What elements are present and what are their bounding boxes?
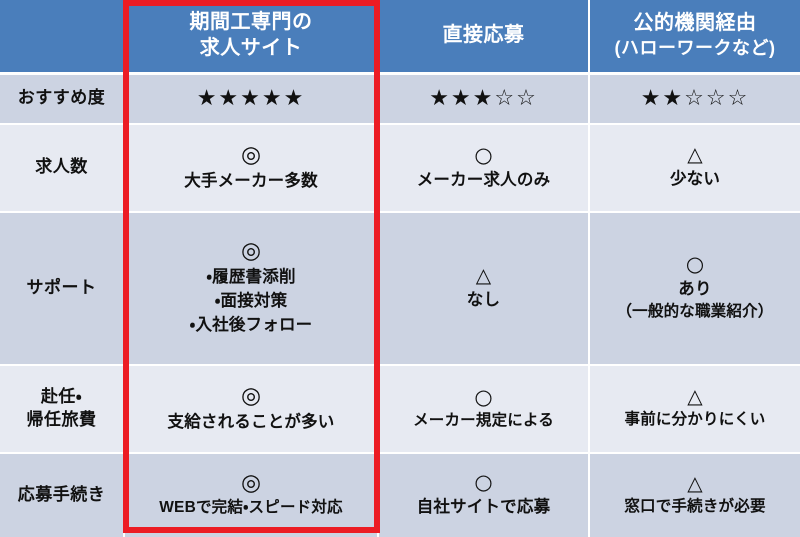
cell-travel-expenses-direct: ○ メーカー規定による bbox=[378, 365, 589, 453]
header-col-public-line2: (ハローワークなど) bbox=[592, 37, 798, 60]
row-label-support-line1: サポート bbox=[4, 277, 119, 300]
table-row-job-count: 求人数 ◎ 大手メーカー多数 ○ メーカー求人のみ △ 少ない bbox=[0, 124, 800, 212]
header-col-public: 公的機関経由 (ハローワークなど) bbox=[589, 0, 800, 73]
cell-support-direct: △ なし bbox=[378, 212, 589, 365]
cell-application-process-public-note: 窓口で手続きが必要 bbox=[594, 496, 796, 519]
cell-job-count-direct-note: メーカー求人のみ bbox=[383, 168, 584, 192]
row-label-job-count-line1: 求人数 bbox=[4, 156, 119, 179]
header-col-main: 期間工専門の 求人サイト bbox=[124, 0, 378, 73]
double-circle-icon: ◎ bbox=[129, 471, 373, 495]
header-col-public-line1: 公的機関経由 bbox=[592, 11, 798, 37]
cell-recommendation-main: ★★★★★ bbox=[124, 73, 378, 124]
table-body: おすすめ度 ★★★★★ ★★★☆☆ ★★☆☆☆ 求人数 ◎ bbox=[0, 73, 800, 537]
circle-icon: ○ bbox=[383, 386, 584, 408]
table-row-recommendation: おすすめ度 ★★★★★ ★★★☆☆ ★★☆☆☆ bbox=[0, 73, 800, 124]
table-row-support: サポート ◎ ・履歴書添削 ・面接対策 ・入社後フォロー △ なし ○ あり （… bbox=[0, 212, 800, 365]
triangle-icon: △ bbox=[594, 386, 796, 407]
cell-support-public-note1: あり bbox=[594, 277, 796, 301]
header-corner-cell bbox=[0, 0, 124, 73]
row-label-recommendation-line1: おすすめ度 bbox=[4, 87, 119, 110]
cell-job-count-main: ◎ 大手メーカー多数 bbox=[124, 124, 378, 212]
row-label-travel-expenses-line2: 帰任旅費 bbox=[4, 409, 119, 432]
circle-icon: ○ bbox=[594, 253, 796, 275]
cell-support-main: ◎ ・履歴書添削 ・面接対策 ・入社後フォロー bbox=[124, 212, 378, 365]
comparison-table-grid: 期間工専門の 求人サイト 直接応募 公的機関経由 (ハローワークなど) おすすめ… bbox=[0, 0, 800, 537]
cell-travel-expenses-main: ◎ 支給されることが多い bbox=[124, 365, 378, 453]
double-circle-icon: ◎ bbox=[129, 384, 373, 408]
comparison-table: 期間工専門の 求人サイト 直接応募 公的機関経由 (ハローワークなど) おすすめ… bbox=[0, 0, 800, 537]
double-circle-icon: ◎ bbox=[129, 239, 373, 263]
cell-travel-expenses-public-note: 事前に分かりにくい bbox=[594, 409, 796, 432]
header-col-direct-line1: 直接応募 bbox=[381, 23, 586, 49]
cell-application-process-main: ◎ WEBで完結・スピード対応 bbox=[124, 453, 378, 537]
header-row: 期間工専門の 求人サイト 直接応募 公的機関経由 (ハローワークなど) bbox=[0, 0, 800, 73]
star-rating-main: ★★★★★ bbox=[129, 88, 373, 110]
star-rating-direct: ★★★☆☆ bbox=[383, 88, 584, 110]
row-label-application-process: 応募手続き bbox=[0, 453, 124, 537]
table-header: 期間工専門の 求人サイト 直接応募 公的機関経由 (ハローワークなど) bbox=[0, 0, 800, 73]
cell-travel-expenses-main-note: 支給されることが多い bbox=[129, 410, 373, 434]
cell-recommendation-direct: ★★★☆☆ bbox=[378, 73, 589, 124]
row-label-recommendation: おすすめ度 bbox=[0, 73, 124, 124]
cell-support-main-note1: ・履歴書添削 bbox=[129, 265, 373, 289]
cell-application-process-public: △ 窓口で手続きが必要 bbox=[589, 453, 800, 537]
cell-application-process-main-note: WEBで完結・スピード対応 bbox=[129, 497, 373, 520]
row-label-job-count: 求人数 bbox=[0, 124, 124, 212]
cell-job-count-public-note: 少ない bbox=[594, 167, 796, 191]
star-rating-public: ★★☆☆☆ bbox=[594, 88, 796, 110]
cell-support-main-note3: ・入社後フォロー bbox=[129, 313, 373, 337]
cell-travel-expenses-public: △ 事前に分かりにくい bbox=[589, 365, 800, 453]
row-label-application-process-line1: 応募手続き bbox=[4, 484, 119, 507]
row-label-travel-expenses: 赴任・ 帰任旅費 bbox=[0, 365, 124, 453]
cell-job-count-public: △ 少ない bbox=[589, 124, 800, 212]
row-label-travel-expenses-line1: 赴任・ bbox=[4, 386, 119, 409]
cell-application-process-direct-note: 自社サイトで応募 bbox=[383, 495, 584, 519]
cell-support-direct-note: なし bbox=[383, 288, 584, 312]
cell-support-public: ○ あり （一般的な職業紹介） bbox=[589, 212, 800, 365]
cell-travel-expenses-direct-note: メーカー規定による bbox=[383, 410, 584, 433]
table-row-application-process: 応募手続き ◎ WEBで完結・スピード対応 ○ 自社サイトで応募 △ 窓口で手続… bbox=[0, 453, 800, 537]
cell-recommendation-public: ★★☆☆☆ bbox=[589, 73, 800, 124]
row-label-support: サポート bbox=[0, 212, 124, 365]
cell-support-public-note2: （一般的な職業紹介） bbox=[594, 301, 796, 324]
header-col-direct: 直接応募 bbox=[378, 0, 589, 73]
triangle-icon: △ bbox=[594, 473, 796, 494]
circle-icon: ○ bbox=[383, 144, 584, 166]
header-col-main-line1: 期間工専門の bbox=[127, 10, 375, 36]
cell-support-main-note2: ・面接対策 bbox=[129, 289, 373, 313]
circle-icon: ○ bbox=[383, 471, 584, 493]
header-col-main-line2: 求人サイト bbox=[127, 36, 375, 62]
table-row-travel-expenses: 赴任・ 帰任旅費 ◎ 支給されることが多い ○ メーカー規定による △ 事前に分… bbox=[0, 365, 800, 453]
triangle-icon: △ bbox=[594, 144, 796, 165]
cell-job-count-main-note: 大手メーカー多数 bbox=[129, 169, 373, 193]
cell-application-process-direct: ○ 自社サイトで応募 bbox=[378, 453, 589, 537]
double-circle-icon: ◎ bbox=[129, 143, 373, 167]
cell-job-count-direct: ○ メーカー求人のみ bbox=[378, 124, 589, 212]
triangle-icon: △ bbox=[383, 265, 584, 286]
